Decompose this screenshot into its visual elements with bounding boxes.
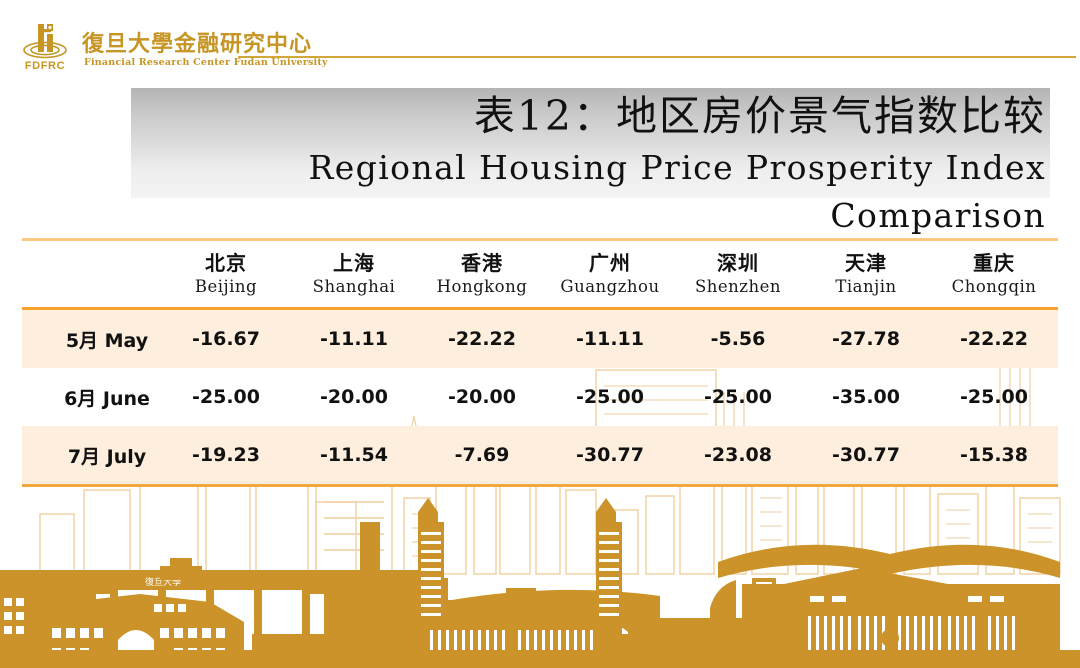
page-title: 表12：地区房价景气指数比较 Regional Housing Price Pr… bbox=[131, 88, 1050, 239]
city-name-cn: 重庆 bbox=[930, 251, 1058, 276]
cell-june-hongkong: -20.00 bbox=[418, 368, 546, 426]
cell-june-tianjin: -35.00 bbox=[802, 368, 930, 426]
cell-june-chongqin: -25.00 bbox=[930, 368, 1058, 426]
table-row: 6月 June -25.00 -20.00 -20.00 -25.00 -25.… bbox=[22, 368, 1058, 426]
svg-text:FDFRC: FDFRC bbox=[25, 60, 65, 72]
cell-july-beijing: -19.23 bbox=[162, 426, 290, 484]
city-name-en: Chongqin bbox=[930, 276, 1058, 298]
city-name-en: Tianjin bbox=[802, 276, 930, 298]
brand-name-cn: 復旦大學金融研究中心 bbox=[82, 26, 312, 58]
corner-cell bbox=[22, 241, 162, 307]
column-header-shanghai: 上海 Shanghai bbox=[290, 241, 418, 307]
city-name-en: Beijing bbox=[162, 276, 290, 298]
city-name-en: Shenzhen bbox=[674, 276, 802, 298]
cell-june-shanghai: -20.00 bbox=[290, 368, 418, 426]
city-name-cn: 北京 bbox=[162, 251, 290, 276]
cell-july-hongkong: -7.69 bbox=[418, 426, 546, 484]
cell-july-tianjin: -30.77 bbox=[802, 426, 930, 484]
row-label-july: 7月 July bbox=[22, 426, 162, 484]
cell-july-shenzhen: -23.08 bbox=[674, 426, 802, 484]
cell-june-shenzhen: -25.00 bbox=[674, 368, 802, 426]
cell-may-hongkong: -22.22 bbox=[418, 310, 546, 368]
cell-may-shanghai: -11.11 bbox=[290, 310, 418, 368]
city-name-en: Hongkong bbox=[418, 276, 546, 298]
cell-july-guangzhou: -30.77 bbox=[546, 426, 674, 484]
cell-june-beijing: -25.00 bbox=[162, 368, 290, 426]
cell-july-chongqin: -15.38 bbox=[930, 426, 1058, 484]
cell-may-tianjin: -27.78 bbox=[802, 310, 930, 368]
table-header-row: 北京 Beijing 上海 Shanghai 香港 Hongkong 广州 Gu… bbox=[22, 241, 1058, 307]
brand-divider bbox=[238, 56, 1076, 58]
cell-may-chongqin: -22.22 bbox=[930, 310, 1058, 368]
column-header-tianjin: 天津 Tianjin bbox=[802, 241, 930, 307]
column-header-shenzhen: 深圳 Shenzhen bbox=[674, 241, 802, 307]
cell-may-beijing: -16.67 bbox=[162, 310, 290, 368]
city-name-en: Shanghai bbox=[290, 276, 418, 298]
column-header-guangzhou: 广州 Guangzhou bbox=[546, 241, 674, 307]
table-bottom-rule bbox=[22, 484, 1058, 487]
city-name-cn: 深圳 bbox=[674, 251, 802, 276]
housing-price-index-table: 北京 Beijing 上海 Shanghai 香港 Hongkong 广州 Gu… bbox=[22, 238, 1058, 487]
brand-name-en: Financial Research Center Fudan Universi… bbox=[84, 57, 328, 68]
row-label-june: 6月 June bbox=[22, 368, 162, 426]
fdfrc-logo-icon: FDFRC bbox=[16, 17, 74, 75]
cell-may-shenzhen: -5.56 bbox=[674, 310, 802, 368]
column-header-hongkong: 香港 Hongkong bbox=[418, 241, 546, 307]
city-name-cn: 香港 bbox=[418, 251, 546, 276]
cell-june-guangzhou: -25.00 bbox=[546, 368, 674, 426]
table-row: 5月 May -16.67 -11.11 -22.22 -11.11 -5.56… bbox=[22, 310, 1058, 368]
column-header-beijing: 北京 Beijing bbox=[162, 241, 290, 307]
row-label-may: 5月 May bbox=[22, 310, 162, 368]
city-name-cn: 上海 bbox=[290, 251, 418, 276]
title-line-en-part1: Regional Housing Price Prosperity Index bbox=[131, 144, 1050, 192]
city-name-cn: 广州 bbox=[546, 251, 674, 276]
city-name-cn: 天津 bbox=[802, 251, 930, 276]
column-header-chongqin: 重庆 Chongqin bbox=[930, 241, 1058, 307]
brand-header: FDFRC 復旦大學金融研究中心 Financial Research Cent… bbox=[0, 0, 1080, 78]
cell-may-guangzhou: -11.11 bbox=[546, 310, 674, 368]
cell-july-shanghai: -11.54 bbox=[290, 426, 418, 484]
table-row: 7月 July -19.23 -11.54 -7.69 -30.77 -23.0… bbox=[22, 426, 1058, 484]
city-name-en: Guangzhou bbox=[546, 276, 674, 298]
table: 北京 Beijing 上海 Shanghai 香港 Hongkong 广州 Gu… bbox=[22, 238, 1058, 487]
title-line-cn: 表12：地区房价景气指数比较 bbox=[131, 88, 1050, 144]
title-line-en-part2: Comparison bbox=[131, 192, 1050, 239]
